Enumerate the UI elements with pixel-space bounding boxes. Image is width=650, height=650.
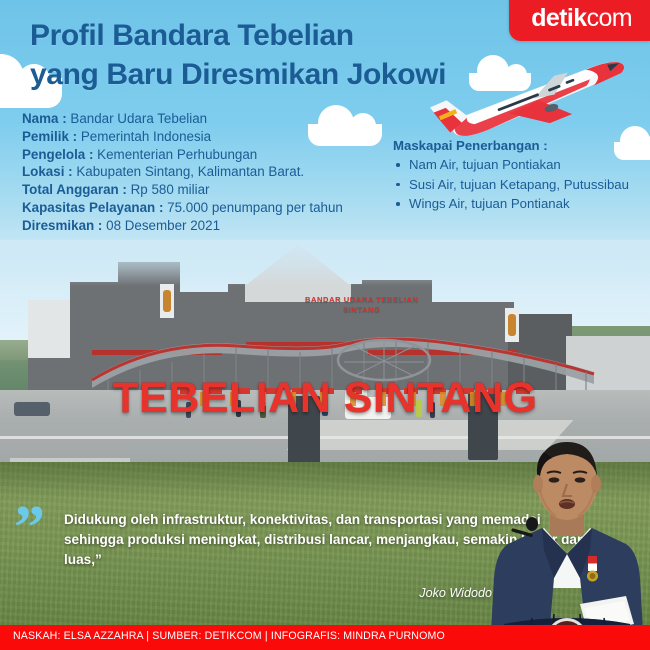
info-label: Total Anggaran : — [22, 182, 127, 197]
page-title: Profil Bandara Tebelian yang Baru Diresm… — [30, 16, 470, 94]
logo-text: detikcom — [531, 6, 632, 31]
info-row: Pengelola : Kementerian Perhubungan — [22, 146, 382, 164]
airport-info-list: Nama : Bandar Udara Tebelian Pemilik : P… — [22, 110, 382, 235]
info-label: Nama : — [22, 111, 67, 126]
info-value: Pemerintah Indonesia — [81, 129, 211, 144]
info-value: Rp 580 miliar — [131, 182, 210, 197]
list-item: Wings Air, tujuan Pontianak — [393, 195, 643, 213]
quote-mark-icon: ” — [14, 508, 42, 548]
bullet-icon — [396, 202, 400, 206]
detikcom-logo[interactable]: detikcom — [509, 0, 650, 41]
info-label: Pengelola : — [22, 147, 93, 162]
info-label: Pemilik : — [22, 129, 77, 144]
airline-label: Susi Air, tujuan Ketapang, Putussibau — [409, 177, 629, 192]
terminal-gable — [245, 244, 351, 286]
airline-list-heading: Maskapai Penerbangan : — [393, 137, 643, 155]
jokowi-portrait — [484, 428, 650, 650]
info-value: Bandar Udara Tebelian — [70, 111, 207, 126]
info-row: Diresmikan : 08 Desember 2021 — [22, 217, 382, 235]
credits-text: NASKAH: ELSA AZZAHRA | SUMBER: DETIKCOM … — [13, 630, 445, 642]
building-signage-line-2: SINTANG — [305, 305, 419, 315]
info-row: Lokasi : Kabupaten Sintang, Kalimantan B… — [22, 163, 382, 181]
building-signage: BANDAR UDARA TEBELIAN SINTANG — [305, 295, 419, 315]
info-label: Kapasitas Pelayanan : — [22, 200, 163, 215]
info-value: 75.000 penumpang per tahun — [167, 200, 343, 215]
airline-label: Wings Air, tujuan Pontianak — [409, 196, 570, 211]
title-line-2: yang Baru Diresmikan Jokowi — [30, 55, 470, 94]
wall-ornament — [163, 290, 171, 312]
credits-bar: NASKAH: ELSA AZZAHRA | SUMBER: DETIKCOM … — [0, 625, 650, 650]
overlay-signage: TEBELIAN SINTANG — [5, 374, 645, 423]
bullet-icon — [396, 183, 400, 187]
list-item: Susi Air, tujuan Ketapang, Putussibau — [393, 176, 643, 194]
infographic-root: detikcom Profil Bandara Tebelian yang Ba… — [0, 0, 650, 650]
logo-light-part: com — [587, 4, 632, 32]
airline-list-block: Maskapai Penerbangan : Nam Air, tujuan P… — [393, 137, 643, 214]
info-value: Kabupaten Sintang, Kalimantan Barat. — [76, 164, 304, 179]
info-value: 08 Desember 2021 — [106, 218, 220, 233]
building-signage-line-1: BANDAR UDARA TEBELIAN — [305, 295, 419, 305]
logo-bold-part: detik — [531, 4, 586, 32]
info-row: Pemilik : Pemerintah Indonesia — [22, 128, 382, 146]
terminal-block — [28, 300, 76, 358]
airline-label: Nam Air, tujuan Pontiakan — [409, 157, 561, 172]
title-line-1: Profil Bandara Tebelian — [30, 16, 470, 55]
airplane-icon — [415, 58, 645, 148]
info-value: Kementerian Perhubungan — [97, 147, 257, 162]
info-row: Nama : Bandar Udara Tebelian — [22, 110, 382, 128]
info-row: Total Anggaran : Rp 580 miliar — [22, 181, 382, 199]
quote-author: Joko Widodo — [0, 586, 492, 600]
info-label: Lokasi : — [22, 164, 73, 179]
airline-list: Nam Air, tujuan Pontiakan Susi Air, tuju… — [393, 156, 643, 213]
bullet-icon — [396, 163, 400, 167]
list-item: Nam Air, tujuan Pontiakan — [393, 156, 643, 174]
info-label: Diresmikan : — [22, 218, 102, 233]
info-row: Kapasitas Pelayanan : 75.000 penumpang p… — [22, 199, 382, 217]
